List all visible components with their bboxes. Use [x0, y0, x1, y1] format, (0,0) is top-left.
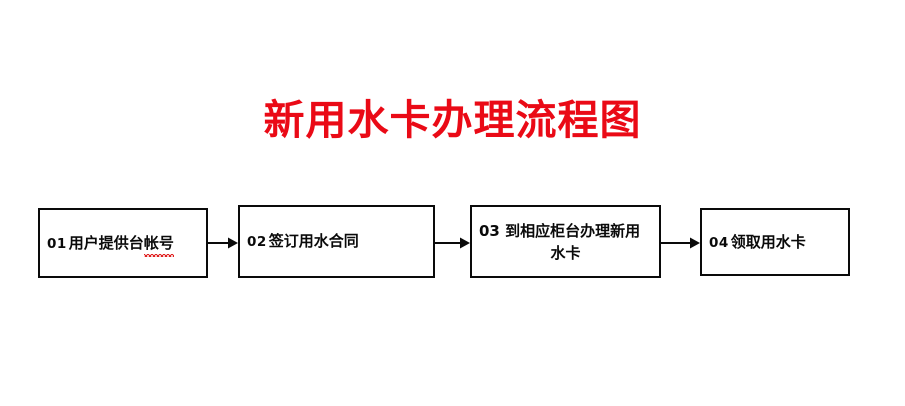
- flow-node-step-1-number: 01: [47, 236, 69, 252]
- flow-node-step-3-line-2: 水卡: [479, 242, 652, 264]
- page-title: 新用水卡办理流程图: [0, 96, 905, 144]
- arrow-step-3-to-step-4: [661, 236, 700, 250]
- flow-node-step-4-number: 04: [709, 235, 731, 251]
- flow-node-step-2[interactable]: 02签订用水合同: [238, 205, 435, 278]
- flow-node-step-4[interactable]: 04领取用水卡: [700, 208, 850, 276]
- watermark-text: [330, 6, 580, 40]
- flow-node-step-2-number: 02: [247, 234, 269, 250]
- arrow-step-1-to-step-2: [208, 236, 238, 250]
- flowchart-canvas: 新用水卡办理流程图 01用户提供台帐号 02签订用水合同 03 到相应柜台办理新…: [0, 0, 905, 406]
- flow-node-step-3-label: 03 到相应柜台办理新用 水卡: [472, 220, 659, 264]
- flow-node-step-1-label: 01用户提供台帐号: [40, 232, 206, 255]
- flow-node-step-2-text: 签订用水合同: [269, 232, 359, 250]
- flow-node-step-3-line-1: 03 到相应柜台办理新用: [479, 222, 640, 240]
- flow-node-step-4-label: 04领取用水卡: [702, 231, 848, 254]
- flow-node-step-4-text: 领取用水卡: [731, 233, 806, 251]
- arrow-step-2-to-step-3: [435, 236, 470, 250]
- flow-node-step-1-text-a: 用户提供台: [69, 234, 144, 252]
- flow-node-step-1-misspelling: 帐号: [144, 232, 174, 254]
- flow-node-step-1[interactable]: 01用户提供台帐号: [38, 208, 208, 278]
- flow-node-step-2-label: 02签订用水合同: [240, 230, 433, 253]
- flow-node-step-3[interactable]: 03 到相应柜台办理新用 水卡: [470, 205, 661, 278]
